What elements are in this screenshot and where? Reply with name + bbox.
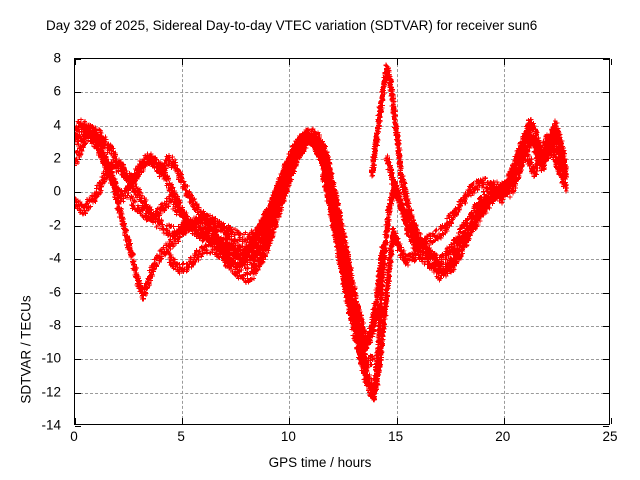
plot-canvas: Day 329 of 2025, Sidereal Day-to-day VTE… <box>0 0 640 480</box>
data-points <box>75 59 609 424</box>
x-tick-mark <box>611 418 612 424</box>
y-tick-label: 6 <box>53 84 61 99</box>
y-tick-mark <box>75 426 81 427</box>
y-tick-label: -10 <box>41 351 61 366</box>
y-tick-label: -6 <box>49 284 61 299</box>
x-tick-label: 20 <box>495 429 510 444</box>
x-tick-label: 25 <box>602 429 617 444</box>
y-tick-label: -2 <box>49 217 61 232</box>
y-tick-label: 8 <box>53 51 61 66</box>
y-tick-label: -12 <box>41 384 61 399</box>
x-tick-label: 15 <box>388 429 403 444</box>
x-tick-label: 0 <box>70 429 78 444</box>
y-axis-title: SDTVAR / TECUs <box>19 240 34 460</box>
y-axis-title-wrap: SDTVAR / TECUs <box>12 122 36 362</box>
x-tick-mark <box>611 59 612 65</box>
x-tick-label: 10 <box>281 429 296 444</box>
chart-title: Day 329 of 2025, Sidereal Day-to-day VTE… <box>46 18 537 33</box>
plot-frame <box>74 58 610 425</box>
y-tick-label: -4 <box>49 251 61 266</box>
x-tick-label: 5 <box>177 429 185 444</box>
y-tick-label: 2 <box>53 151 61 166</box>
y-tick-label: 0 <box>53 184 61 199</box>
x-axis-title: GPS time / hours <box>0 455 640 470</box>
y-tick-label: 4 <box>53 117 61 132</box>
y-tick-mark <box>603 426 609 427</box>
y-tick-label: -14 <box>41 418 61 433</box>
x-axis-tick-labels: 0510152025 <box>74 429 610 451</box>
y-tick-label: -8 <box>49 317 61 332</box>
